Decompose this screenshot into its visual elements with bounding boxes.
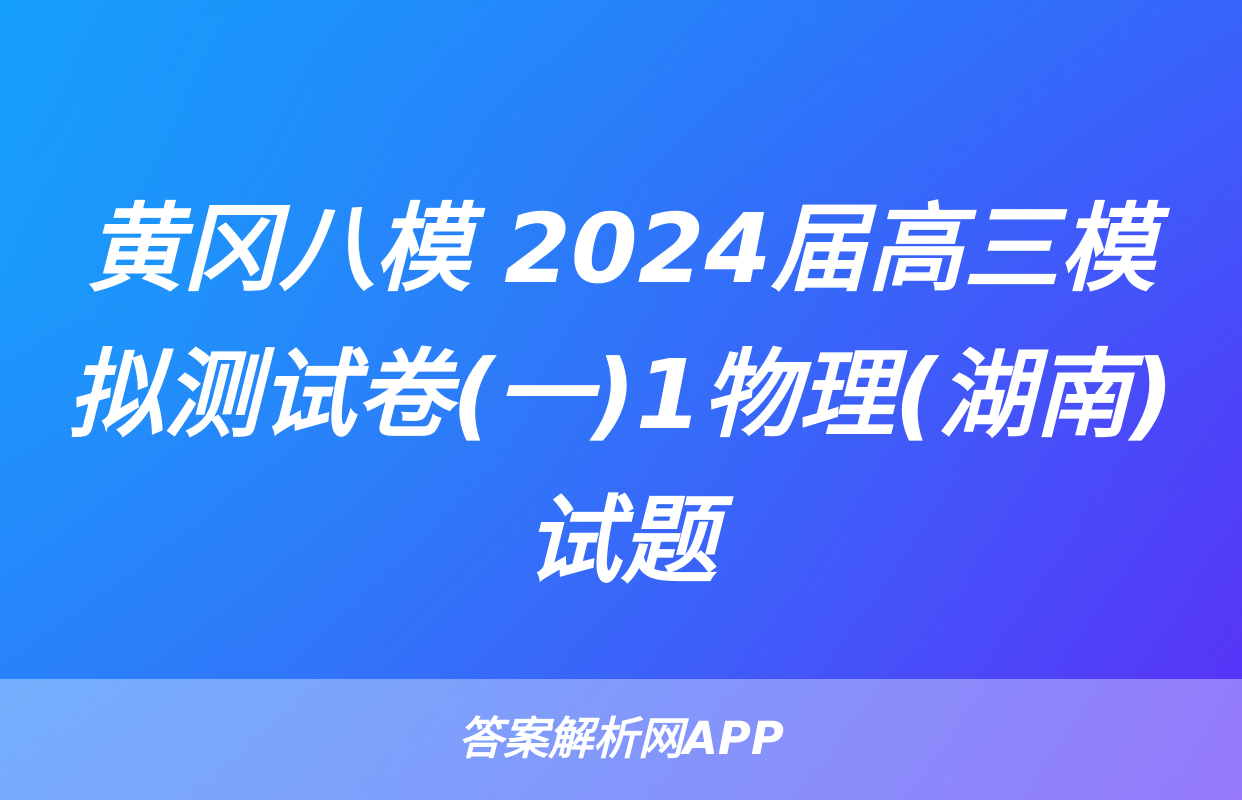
title-area: 黄冈八模 2024届高三模拟测试卷(一)1物理(湖南)试题 [0,176,1242,614]
page-title: 黄冈八模 2024届高三模拟测试卷(一)1物理(湖南)试题 [62,176,1180,614]
footer-watermark-band: 答案解析网APP [0,679,1242,800]
exam-cover-card: 黄冈八模 2024届高三模拟测试卷(一)1物理(湖南)试题 答案解析网APP [0,0,1242,800]
app-watermark-label: 答案解析网APP [458,716,784,763]
